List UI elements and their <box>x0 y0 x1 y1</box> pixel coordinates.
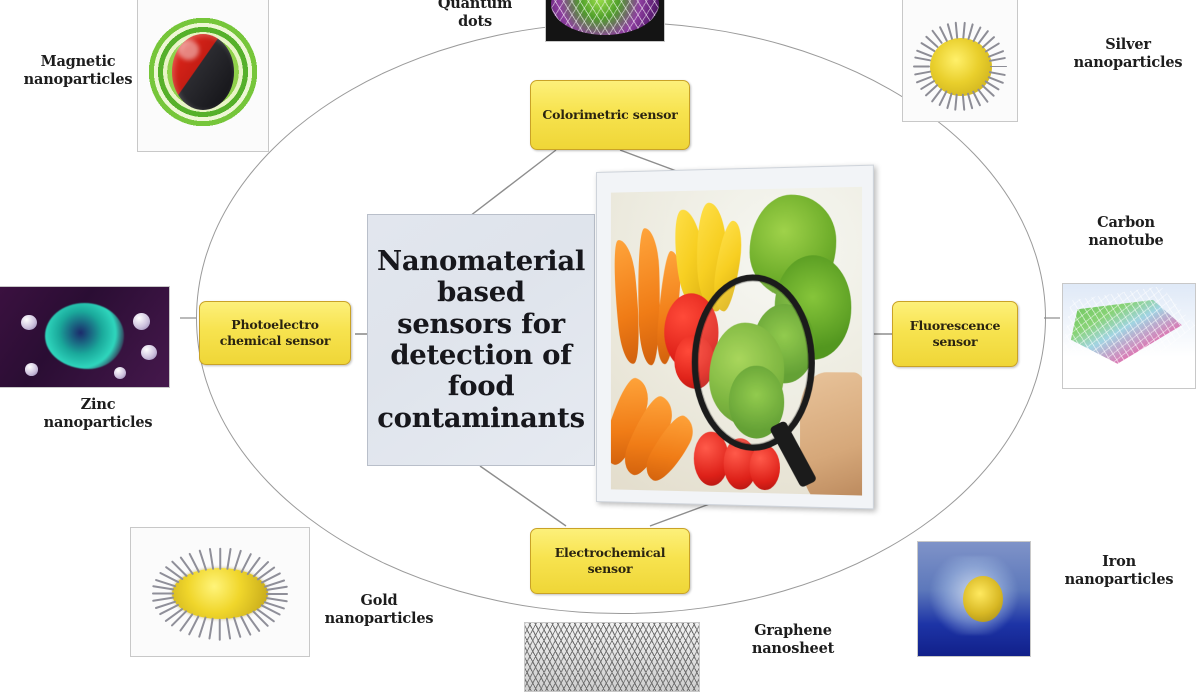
sensor-box-fluorescence[interactable]: Fluorescence sensor <box>892 301 1018 367</box>
thumbnail-zinc-nanoparticles <box>0 286 170 388</box>
sensor-box-electrochemical-label: Electrochemical sensor <box>531 545 689 578</box>
thumbnail-carbon-nanotube <box>1062 283 1196 389</box>
thumbnail-magnetic-nanoparticles <box>137 0 269 152</box>
food-photo-image <box>611 187 862 496</box>
thumbnail-quantum-dots <box>545 0 665 42</box>
sensor-box-colorimetric-label: Colorimetric sensor <box>539 107 680 124</box>
label-magnetic-nanoparticles: Magnetic nanoparticles <box>8 53 148 88</box>
label-gold-nanoparticles: Gold nanoparticles <box>304 592 454 627</box>
label-graphene-nanosheet: Graphene nanosheet <box>718 622 868 657</box>
food-photo-panel <box>596 172 864 502</box>
page-title: Nanomaterial based sensors for detection… <box>376 246 586 434</box>
figure-canvas: Nanomaterial based sensors for detection… <box>0 0 1200 675</box>
thumbnail-silver-nanoparticles <box>902 0 1018 122</box>
sensor-box-fluorescence-label: Fluorescence sensor <box>893 318 1017 351</box>
label-carbon-nanotube: Carbon nanotube <box>1056 214 1196 249</box>
thumbnail-gold-nanoparticles <box>130 527 310 657</box>
label-iron-nanoparticles: Iron nanoparticles <box>1044 553 1194 588</box>
magnifying-glass-icon <box>692 274 816 452</box>
thumbnail-iron-nanoparticles <box>917 541 1031 657</box>
label-quantum-dots: Quantum dots <box>412 0 538 30</box>
thumbnail-graphene-nanosheet <box>524 622 700 692</box>
label-zinc-nanoparticles: Zinc nanoparticles <box>18 396 178 431</box>
central-concept-box: Nanomaterial based sensors for detection… <box>367 214 595 466</box>
sensor-box-electrochemical[interactable]: Electrochemical sensor <box>530 528 690 594</box>
sensor-box-photoelectrochemical-label: Photoelectro chemical sensor <box>200 317 350 350</box>
label-silver-nanoparticles: Silver nanoparticles <box>1060 36 1196 71</box>
sensor-box-photoelectrochemical[interactable]: Photoelectro chemical sensor <box>199 301 351 365</box>
sensor-box-colorimetric[interactable]: Colorimetric sensor <box>530 80 690 150</box>
